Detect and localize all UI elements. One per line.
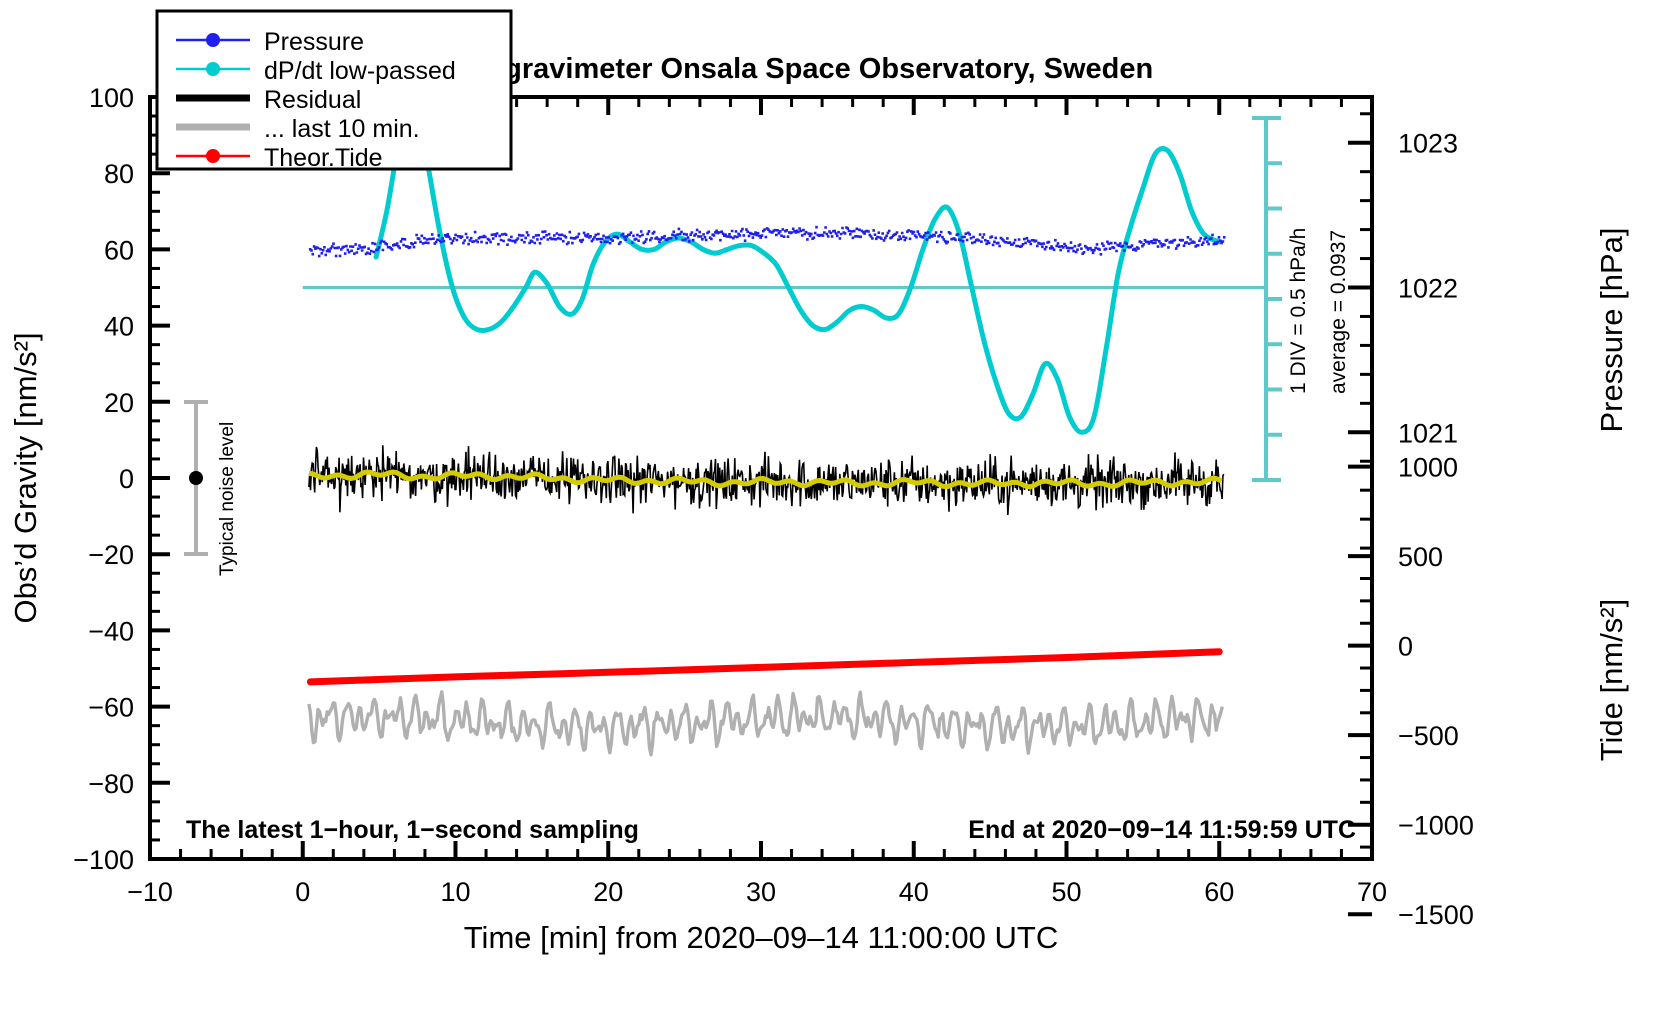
x-axis-title: Time [min] from 2020–09–14 11:00:00 UTC: [464, 920, 1058, 955]
legend-item-label: Pressure: [264, 28, 364, 56]
x-tick-label: −10: [127, 877, 173, 907]
legend-marker-icon: [206, 33, 220, 47]
legend-marker-icon: [206, 62, 220, 76]
y-axis-tide-title: Tide [nm/s²]: [1594, 599, 1629, 762]
pressure-tick-label: 1021: [1398, 418, 1458, 448]
tide-tick-label: −1500: [1398, 900, 1474, 930]
y-tick-label: 100: [89, 83, 134, 113]
y-tick-label: 0: [119, 464, 134, 494]
y-tick-label: 40: [104, 312, 134, 342]
legend[interactable]: PressuredP/dt low-passedResidual... last…: [157, 11, 511, 172]
pressure-tick-label: 1022: [1398, 274, 1458, 304]
x-tick-label: 10: [440, 877, 470, 907]
y-axis-pressure-title: Pressure [hPa]: [1594, 227, 1629, 432]
tide-tick-label: 0: [1398, 632, 1413, 662]
dpdt-div-label: 1 DIV = 0.5 hPa/h: [1287, 228, 1310, 394]
y-tick-label: 20: [104, 388, 134, 418]
x-tick-label: 60: [1204, 877, 1234, 907]
y-axis-left-title: Obs’d Gravity [nm/s²]: [8, 332, 43, 623]
pressure-tick-label: 1023: [1398, 129, 1458, 159]
y-tick-label: −40: [88, 616, 134, 646]
y-tick-label: −80: [88, 769, 134, 799]
tide-tick-label: −500: [1398, 721, 1459, 751]
gravimeter-plot: −10010203040506070 100806040200−20−40−60…: [0, 0, 1660, 1020]
typical-noise-label: Typical noise level: [217, 422, 238, 576]
y-tick-label: 80: [104, 159, 134, 189]
x-tick-label: 30: [746, 877, 776, 907]
legend-item-label: Residual: [264, 86, 361, 114]
y-tick-label: −60: [88, 693, 134, 723]
legend-item-label: ... last 10 min.: [264, 115, 420, 143]
x-tick-label: 0: [295, 877, 310, 907]
tide-tick-label: 1000: [1398, 453, 1458, 483]
legend-marker-icon: [206, 149, 220, 163]
legend-item-label: dP/dt low-passed: [264, 57, 456, 85]
x-tick-label: 70: [1357, 877, 1387, 907]
tide-tick-label: 500: [1398, 542, 1443, 572]
footer-right-text: End at 2020−09−14 11:59:59 UTC: [968, 816, 1356, 844]
x-tick-label: 50: [1051, 877, 1081, 907]
footer-left-text: The latest 1−hour, 1−second sampling: [186, 816, 639, 844]
y-tick-label: −20: [88, 540, 134, 570]
y-tick-label: 60: [104, 235, 134, 265]
y-tick-label: −100: [73, 845, 134, 875]
x-tick-label: 40: [899, 877, 929, 907]
legend-item-label: Theor.Tide: [264, 144, 383, 172]
tide-tick-label: −1000: [1398, 811, 1474, 841]
dpdt-average-label: average = 0.0937: [1327, 230, 1350, 394]
x-tick-label: 20: [593, 877, 623, 907]
chart-page: −10010203040506070 100806040200−20−40−60…: [0, 0, 1660, 1020]
